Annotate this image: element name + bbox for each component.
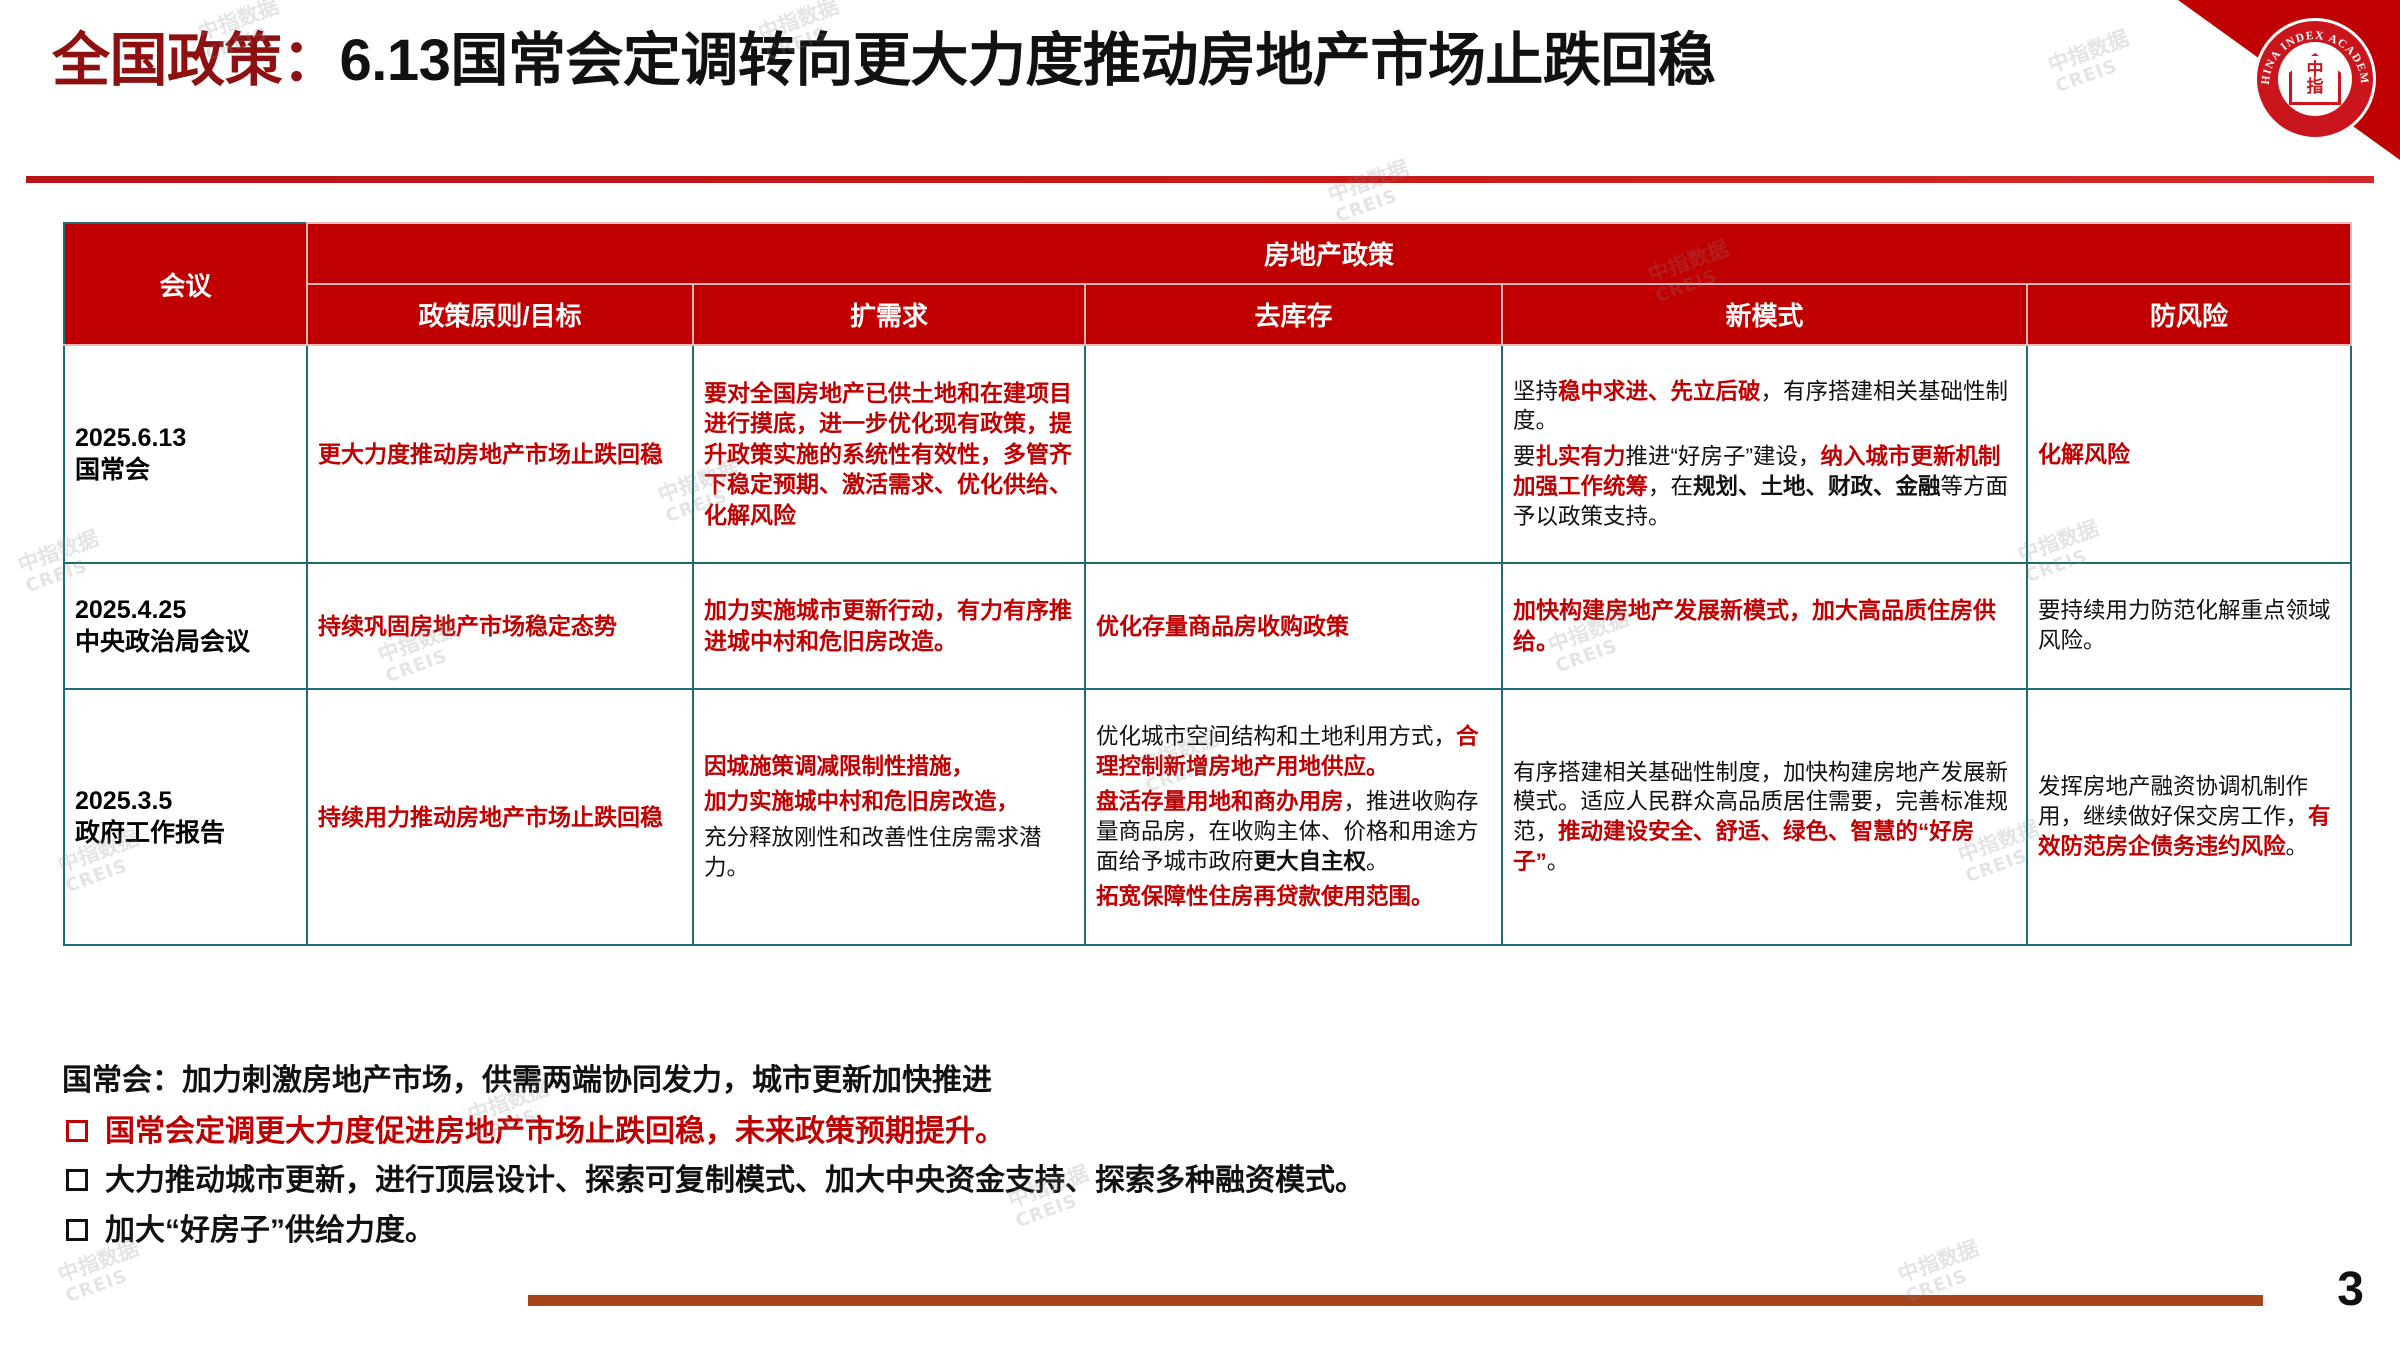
page-title-prefix: 全国政策： bbox=[52, 28, 340, 93]
table-header-group-row: 会议 房地产政策 bbox=[64, 223, 2351, 284]
square-bullet-icon bbox=[66, 1120, 88, 1142]
model-seg-highlight: 稳中求进、先立后破 bbox=[1558, 379, 1761, 404]
cell-demand: 加力实施城市更新行动，有力有序推进城中村和危旧房改造。 bbox=[693, 563, 1085, 689]
demand-paragraph: 充分释放刚性和改善性住房需求潜力。 bbox=[704, 823, 1074, 882]
stock-paragraph-2: 盘活存量用地和商办用房，推进收购存量商品房，在收购主体、价格和用途方面给予城市政… bbox=[1096, 787, 1491, 876]
demand-text: 要对全国房地产已供土地和在建项目进行摸底，进一步优化现有政策，提升政策实施的系统… bbox=[704, 378, 1074, 531]
column-header-stock: 去库存 bbox=[1085, 284, 1502, 345]
demand-paragraph: 加力实施城中村和危旧房改造， bbox=[704, 787, 1074, 817]
cell-model: 加快构建房地产发展新模式，加大高品质住房供给。 bbox=[1502, 563, 2027, 689]
risk-seg: 发挥房地产融资协调机制作用，继续做好保交房工作， bbox=[2038, 774, 2308, 829]
stock-paragraph-1: 优化城市空间结构和土地利用方式，合理控制新增房地产用地供应。 bbox=[1096, 722, 1491, 781]
watermark-line2: CREIS bbox=[1333, 179, 1419, 227]
cell-stock bbox=[1085, 345, 1502, 563]
cell-model: 有序搭建相关基础性制度，加快构建房地产发展新模式。适应人民群众高品质居住需要，完… bbox=[1502, 689, 2027, 945]
page-title-main: 6.13国常会定调转向更大力度推动房地产市场止跌回稳 bbox=[340, 28, 1716, 93]
policy-table: 会议 房地产政策 政策原则/目标 扩需求 去库存 新模式 防风险 2025.6.… bbox=[63, 222, 2352, 946]
risk-paragraph: 发挥房地产融资协调机制作用，继续做好保交房工作，有效防范房企债务违约风险。 bbox=[2038, 772, 2340, 861]
stock-seg: 。 bbox=[1366, 849, 1389, 874]
demand-seg-highlight: 加力实施城中村和危旧房改造， bbox=[704, 789, 1019, 814]
cell-meeting: 2025.6.13 国常会 bbox=[64, 345, 307, 563]
table-row: 2025.3.5 政府工作报告 持续用力推动房地产市场止跌回稳 因城施策调减限制… bbox=[64, 689, 2351, 945]
column-header-meeting: 会议 bbox=[64, 223, 307, 345]
column-header-principle: 政策原则/目标 bbox=[307, 284, 693, 345]
cell-risk: 化解风险 bbox=[2027, 345, 2351, 563]
column-header-group: 房地产政策 bbox=[307, 223, 2351, 284]
risk-text: 要持续用力防范化解重点领域风险。 bbox=[2038, 596, 2340, 655]
cell-principle: 持续巩固房地产市场稳定态势 bbox=[307, 563, 693, 689]
stock-seg-highlight: 盘活存量用地和商办用房 bbox=[1096, 789, 1344, 814]
meeting-date: 2025.3.5 bbox=[75, 785, 296, 818]
slide-header: 全国政策：6.13国常会定调转向更大力度推动房地产市场止跌回稳 CHINA IN… bbox=[0, 0, 2400, 178]
logo-char-bottom: 指 bbox=[2307, 77, 2324, 97]
table-row: 2025.4.25 中央政治局会议 持续巩固房地产市场稳定态势 加力实施城市更新… bbox=[64, 563, 2351, 689]
list-item-label: 大力推动城市更新，进行顶层设计、探索可复制模式、加大中央资金支持、探索多种融资模… bbox=[105, 1162, 1365, 1200]
principle-text: 持续巩固房地产市场稳定态势 bbox=[318, 611, 682, 642]
meeting-date: 2025.6.13 bbox=[75, 422, 296, 455]
list-item: 大力推动城市更新，进行顶层设计、探索可复制模式、加大中央资金支持、探索多种融资模… bbox=[62, 1162, 2062, 1200]
list-item: 加大“好房子”供给力度。 bbox=[62, 1212, 2062, 1250]
model-paragraph-2: 要扎实有力推进“好房子”建设，纳入城市更新机制加强工作统筹，在规划、土地、财政、… bbox=[1513, 442, 2016, 531]
meeting-name: 国常会 bbox=[75, 454, 296, 487]
model-seg-highlight: 推动建设安全、舒适、绿色、智慧的“好房子” bbox=[1513, 819, 1974, 874]
meeting-name: 政府工作报告 bbox=[75, 817, 296, 850]
meeting-name: 中央政治局会议 bbox=[75, 626, 296, 659]
list-item: 国常会定调更大力度促进房地产市场止跌回稳，未来政策预期提升。 bbox=[62, 1113, 2062, 1151]
model-seg: 要 bbox=[1513, 444, 1536, 469]
cell-risk: 要持续用力防范化解重点领域风险。 bbox=[2027, 563, 2351, 689]
cell-model: 坚持稳中求进、先立后破，有序搭建相关基础性制度。 要扎实有力推进“好房子”建设，… bbox=[1502, 345, 2027, 563]
china-index-academy-logo: CHINA INDEX ACADEMY 中 指 bbox=[2254, 18, 2376, 140]
model-paragraph-1: 坚持稳中求进、先立后破，有序搭建相关基础性制度。 bbox=[1513, 377, 2016, 436]
cell-demand: 要对全国房地产已供土地和在建项目进行摸底，进一步优化现有政策，提升政策实施的系统… bbox=[693, 345, 1085, 563]
summary-notes: 国常会：加力刺激房地产市场，供需两端协同发力，城市更新加快推进 国常会定调更大力… bbox=[62, 1062, 2062, 1261]
meeting-date: 2025.4.25 bbox=[75, 594, 296, 627]
model-seg: 坚持 bbox=[1513, 379, 1558, 404]
model-text: 加快构建房地产发展新模式，加大高品质住房供给。 bbox=[1513, 595, 2016, 656]
demand-paragraph: 因城施策调减限制性措施， bbox=[704, 752, 1074, 782]
logo-inner-emblem: 中 指 bbox=[2278, 42, 2352, 116]
stock-seg: 优化城市空间结构和土地利用方式， bbox=[1096, 724, 1456, 749]
square-bullet-icon bbox=[66, 1219, 88, 1241]
header-divider bbox=[26, 176, 2374, 183]
square-bullet-icon bbox=[66, 1169, 88, 1191]
table-row: 2025.6.13 国常会 更大力度推动房地产市场止跌回稳 要对全国房地产已供土… bbox=[64, 345, 2351, 563]
column-header-model: 新模式 bbox=[1502, 284, 2027, 345]
footer-divider bbox=[528, 1295, 2263, 1306]
model-seg: 。 bbox=[1547, 849, 1570, 874]
cell-stock: 优化存量商品房收购政策 bbox=[1085, 563, 1502, 689]
cell-meeting: 2025.4.25 中央政治局会议 bbox=[64, 563, 307, 689]
cell-meeting: 2025.3.5 政府工作报告 bbox=[64, 689, 307, 945]
page-number: 3 bbox=[2337, 1262, 2364, 1317]
stock-seg-bold: 更大自主权 bbox=[1254, 849, 1367, 874]
model-seg: 推进“好房子”建设， bbox=[1626, 444, 1821, 469]
cell-stock: 优化城市空间结构和土地利用方式，合理控制新增房地产用地供应。 盘活存量用地和商办… bbox=[1085, 689, 1502, 945]
risk-text: 化解风险 bbox=[2038, 439, 2340, 470]
column-header-risk: 防风险 bbox=[2027, 284, 2351, 345]
model-seg-bold: 规划、土地、财政、金融 bbox=[1693, 474, 1941, 499]
model-seg-highlight: 扎实有力 bbox=[1536, 444, 1626, 469]
list-item-label: 国常会定调更大力度促进房地产市场止跌回稳，未来政策预期提升。 bbox=[105, 1113, 1005, 1151]
stock-paragraph-3: 拓宽保障性住房再贷款使用范围。 bbox=[1096, 882, 1491, 912]
model-seg: ，在 bbox=[1648, 474, 1693, 499]
demand-seg-highlight: 因城施策调减限制性措施， bbox=[704, 754, 974, 779]
table-header-row: 政策原则/目标 扩需求 去库存 新模式 防风险 bbox=[64, 284, 2351, 345]
stock-seg-highlight: 拓宽保障性住房再贷款使用范围。 bbox=[1096, 884, 1434, 909]
stock-text: 优化存量商品房收购政策 bbox=[1096, 611, 1491, 642]
watermark-line2: CREIS bbox=[63, 1259, 149, 1307]
model-paragraph: 有序搭建相关基础性制度，加快构建房地产发展新模式。适应人民群众高品质居住需要，完… bbox=[1513, 758, 2016, 877]
column-header-demand: 扩需求 bbox=[693, 284, 1085, 345]
cell-principle: 持续用力推动房地产市场止跌回稳 bbox=[307, 689, 693, 945]
cell-risk: 发挥房地产融资协调机制作用，继续做好保交房工作，有效防范房企债务违约风险。 bbox=[2027, 689, 2351, 945]
page-title: 全国政策：6.13国常会定调转向更大力度推动房地产市场止跌回稳 bbox=[52, 28, 1715, 95]
list-item-label: 加大“好房子”供给力度。 bbox=[105, 1212, 435, 1250]
demand-seg: 充分释放刚性和改善性住房需求潜力。 bbox=[704, 825, 1042, 880]
logo-chinese-mark: 中 指 bbox=[2307, 62, 2324, 96]
cell-principle: 更大力度推动房地产市场止跌回稳 bbox=[307, 345, 693, 563]
notes-heading: 国常会：加力刺激房地产市场，供需两端协同发力，城市更新加快推进 bbox=[62, 1062, 2062, 1100]
cell-demand: 因城施策调减限制性措施， 加力实施城中村和危旧房改造， 充分释放刚性和改善性住房… bbox=[693, 689, 1085, 945]
principle-text: 持续用力推动房地产市场止跌回稳 bbox=[318, 802, 682, 833]
principle-text: 更大力度推动房地产市场止跌回稳 bbox=[318, 439, 682, 470]
risk-seg: 。 bbox=[2286, 834, 2309, 859]
demand-text: 加力实施城市更新行动，有力有序推进城中村和危旧房改造。 bbox=[704, 595, 1074, 656]
